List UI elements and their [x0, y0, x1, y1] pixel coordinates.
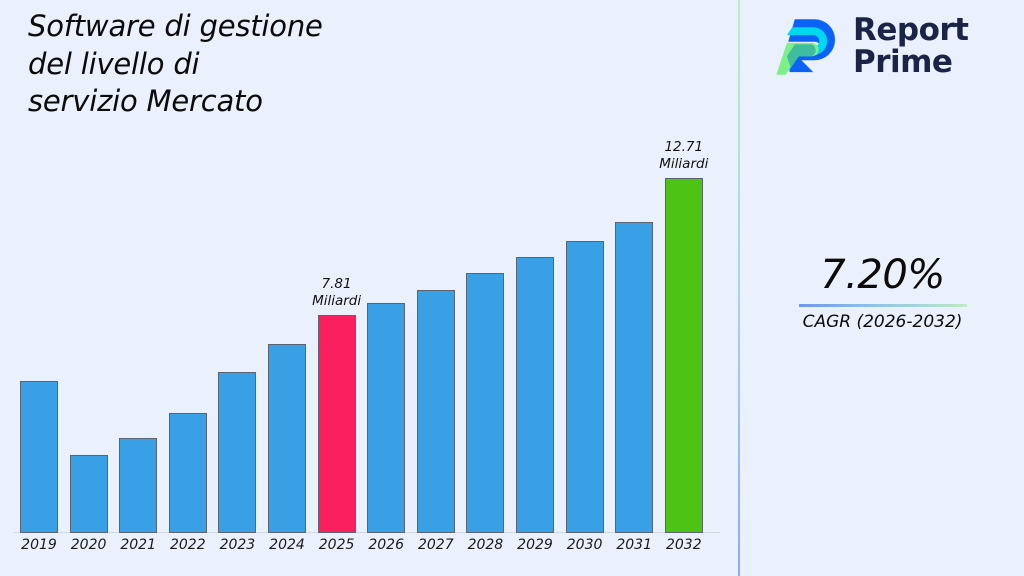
x-tick-2026: 2026	[361, 537, 411, 553]
chart-panel: Software di gestione del livello di serv…	[0, 0, 739, 576]
bar-2032[interactable]: 12.71Miliardi	[665, 178, 703, 533]
bar-rect-2022[interactable]	[169, 413, 207, 533]
x-tick-2025: 2025	[312, 537, 362, 553]
brand-name-line2: Prime	[853, 47, 969, 79]
bar-value-unit-2032: Miliardi	[659, 156, 708, 174]
bar-value-label-2032: 12.71Miliardi	[659, 139, 708, 174]
x-tick-2032: 2032	[659, 537, 709, 553]
bar-2031[interactable]	[615, 222, 653, 533]
x-tick-2031: 2031	[609, 537, 659, 553]
report-prime-r-logo-icon	[775, 14, 841, 80]
brand-name: Report Prime	[853, 15, 969, 79]
bar-rect-2024[interactable]	[268, 344, 306, 533]
x-tick-2020: 2020	[64, 537, 114, 553]
bar-rect-2026[interactable]	[367, 303, 405, 533]
bar-rect-2030[interactable]	[566, 241, 604, 533]
bar-2025[interactable]: 7.81Miliardi	[318, 315, 356, 533]
cagr-block: 7.20% CAGR (2026-2032)	[741, 252, 1024, 332]
bar-rect-2029[interactable]	[516, 257, 554, 534]
chart-page: Software di gestione del livello di serv…	[0, 0, 1024, 576]
bar-2030[interactable]	[566, 241, 604, 533]
bar-rect-2023[interactable]	[218, 372, 256, 533]
bar-chart-plot: 7.81Miliardi12.71Miliardi 20192020202120…	[0, 0, 739, 576]
bar-2026[interactable]	[367, 303, 405, 533]
brand-logo: Report Prime	[775, 14, 969, 80]
bar-rect-2025[interactable]	[318, 315, 356, 533]
bar-2027[interactable]	[417, 290, 455, 533]
bar-2028[interactable]	[466, 273, 504, 533]
bar-rect-2027[interactable]	[417, 290, 455, 533]
x-tick-2023: 2023	[212, 537, 262, 553]
bar-rect-2020[interactable]	[70, 455, 108, 533]
bar-rect-2032[interactable]	[665, 178, 703, 533]
bar-rect-2031[interactable]	[615, 222, 653, 533]
bar-2029[interactable]	[516, 257, 554, 534]
bar-value-label-2025: 7.81Miliardi	[312, 276, 361, 311]
bar-2019[interactable]	[20, 381, 58, 533]
brand-name-line1: Report	[853, 15, 969, 47]
x-tick-2022: 2022	[163, 537, 213, 553]
bar-rect-2019[interactable]	[20, 381, 58, 533]
bar-rect-2021[interactable]	[119, 438, 157, 533]
cagr-caption: CAGR (2026-2032)	[741, 312, 1024, 332]
bar-value-number-2032: 12.71	[659, 139, 708, 157]
x-tick-2028: 2028	[460, 537, 510, 553]
bar-value-unit-2025: Miliardi	[312, 293, 361, 311]
cagr-divider	[799, 304, 967, 307]
info-panel: Report Prime 7.20% CAGR (2026-2032)	[741, 0, 1024, 576]
bar-2024[interactable]	[268, 344, 306, 533]
bar-2021[interactable]	[119, 438, 157, 533]
x-tick-2019: 2019	[14, 537, 64, 553]
bar-2020[interactable]	[70, 455, 108, 533]
x-tick-2027: 2027	[411, 537, 461, 553]
bar-value-number-2025: 7.81	[312, 276, 361, 294]
x-tick-2024: 2024	[262, 537, 312, 553]
x-tick-2030: 2030	[560, 537, 610, 553]
bar-2023[interactable]	[218, 372, 256, 533]
x-tick-2029: 2029	[510, 537, 560, 553]
bar-rect-2028[interactable]	[466, 273, 504, 533]
bar-2022[interactable]	[169, 413, 207, 533]
cagr-value: 7.20%	[741, 252, 1024, 298]
x-tick-2021: 2021	[113, 537, 163, 553]
panel-divider	[738, 0, 740, 576]
